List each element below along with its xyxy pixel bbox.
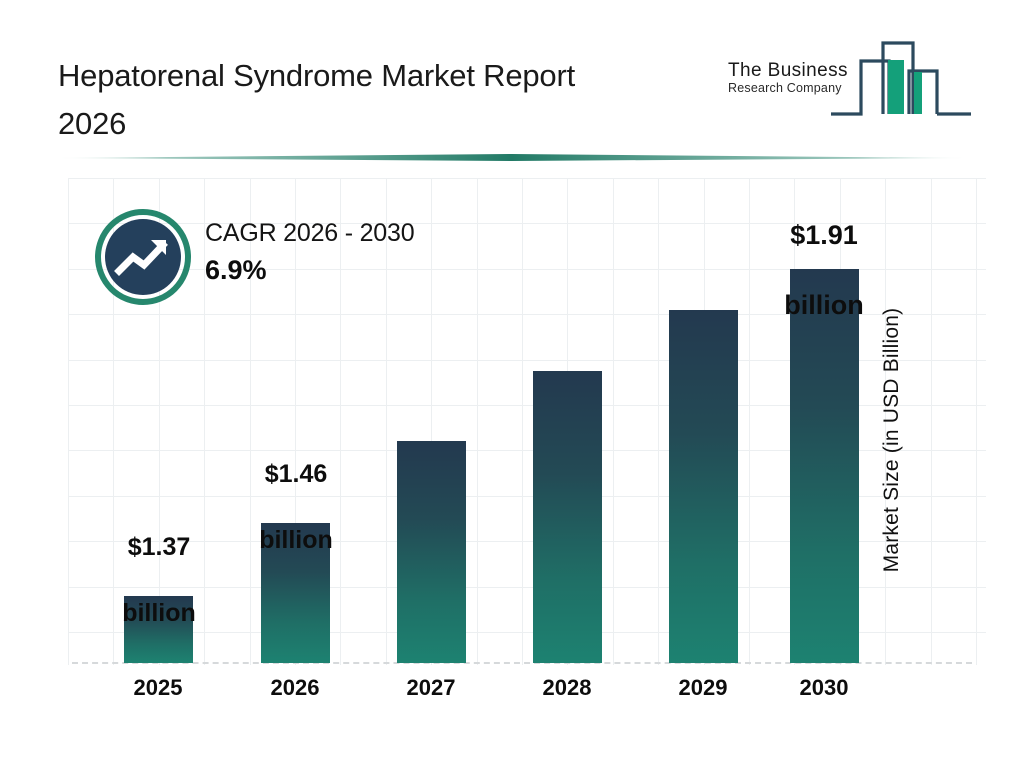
bar-value-2026-amount: $1.46 xyxy=(265,460,328,488)
cagr-badge xyxy=(95,209,191,305)
x-tick-2026: 2026 xyxy=(235,675,355,701)
bar-2027[interactable] xyxy=(397,441,466,663)
horizontal-gridline xyxy=(68,178,986,179)
bar-2029[interactable] xyxy=(669,310,738,663)
vertical-gridline xyxy=(522,178,523,665)
bar-value-2025-unit: billion xyxy=(122,599,196,627)
bar-value-2030-unit: billion xyxy=(784,290,863,320)
x-tick-2030: 2030 xyxy=(764,675,884,701)
x-tick-2027: 2027 xyxy=(371,675,491,701)
cagr-value: 6.9% xyxy=(205,250,414,290)
vertical-gridline xyxy=(931,178,932,665)
chart-page: Hepatorenal Syndrome Market Report 2026 … xyxy=(0,0,1024,768)
bar-value-2025-amount: $1.37 xyxy=(128,533,191,561)
y-axis-label: Market Size (in USD Billion) xyxy=(880,280,904,600)
bar-value-2030-amount: $1.91 xyxy=(790,220,858,250)
vertical-gridline xyxy=(749,178,750,665)
vertical-gridline xyxy=(976,178,977,665)
vertical-gridline xyxy=(658,178,659,665)
vertical-gridline xyxy=(68,178,69,665)
bar-value-label-2025: $1.37 billion xyxy=(99,498,219,630)
bar-value-label-2026: $1.46 billion xyxy=(236,425,356,557)
cagr-period-label: CAGR 2026 - 2030 xyxy=(205,216,414,250)
bar-2030[interactable] xyxy=(790,269,859,663)
bar-chart: $1.37 billion $1.46 billion $1.91 billio… xyxy=(0,0,1024,768)
x-tick-2028: 2028 xyxy=(507,675,627,701)
bar-value-label-2030: $1.91 billion xyxy=(764,183,884,323)
x-tick-2029: 2029 xyxy=(643,675,763,701)
bar-value-2026-unit: billion xyxy=(259,526,333,554)
vertical-gridline xyxy=(477,178,478,665)
vertical-gridline xyxy=(613,178,614,665)
x-tick-2025: 2025 xyxy=(98,675,218,701)
cagr-text-block: CAGR 2026 - 2030 6.9% xyxy=(205,216,414,290)
bar-2028[interactable] xyxy=(533,371,602,663)
